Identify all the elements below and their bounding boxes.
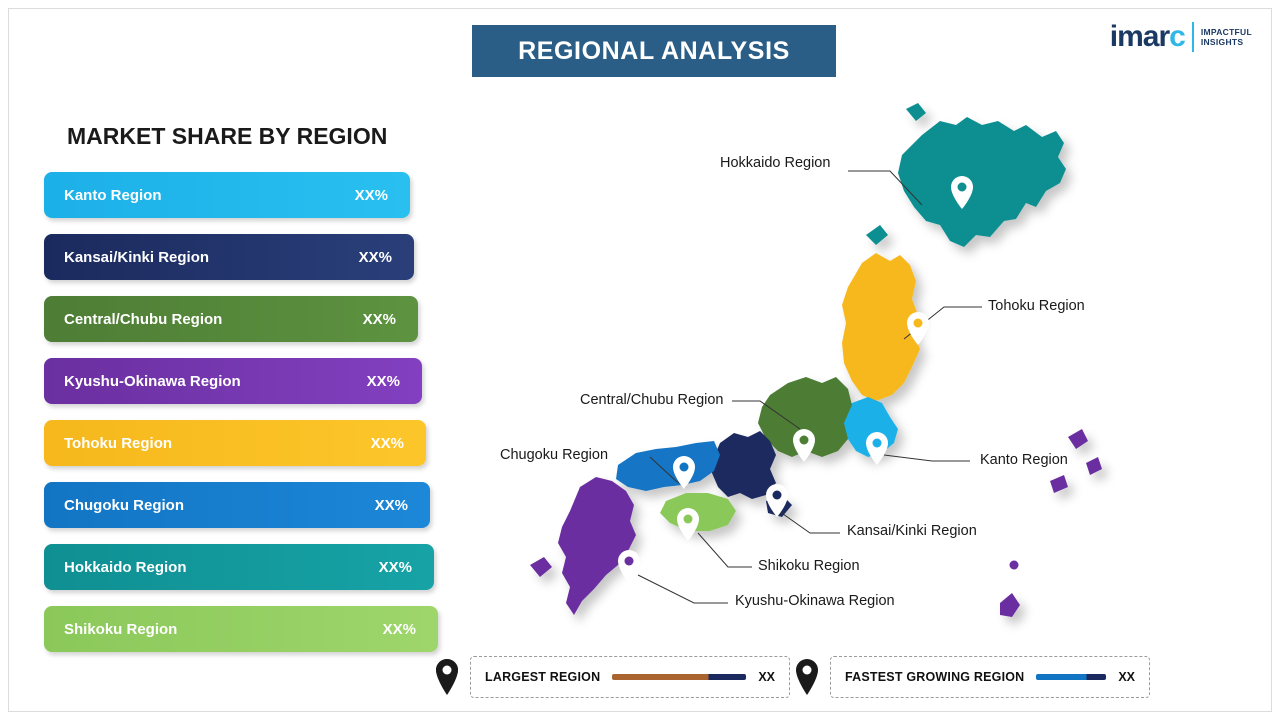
fastest-region-box: FASTEST GROWING REGION XX: [830, 656, 1150, 698]
market-share-bar-value: XX%: [367, 373, 400, 390]
region-okinawa-3[interactable]: [1086, 457, 1102, 475]
logo-tagline-line1: IMPACTFUL: [1201, 27, 1252, 37]
largest-region-label: LARGEST REGION: [485, 670, 600, 684]
market-share-bar-label: Tohoku Region: [64, 435, 172, 452]
market-share-bar-value: XX%: [379, 559, 412, 576]
pin-chubu[interactable]: [793, 429, 815, 462]
market-share-bar-label: Chugoku Region: [64, 497, 184, 514]
region-hokkaido-minor[interactable]: [906, 103, 926, 121]
fastest-region-pin-icon: [794, 657, 820, 697]
map-label-hokkaido: Hokkaido Region: [720, 155, 830, 171]
largest-region-legend: LARGEST REGION XX: [434, 656, 790, 698]
logo-tagline-line2: INSIGHTS: [1201, 37, 1252, 47]
region-kyushu[interactable]: [558, 477, 636, 615]
japan-map: Hokkaido RegionTohoku RegionCentral/Chub…: [470, 95, 1270, 665]
largest-region-bar: [612, 674, 746, 680]
market-share-bar-label: Hokkaido Region: [64, 559, 187, 576]
logo-wordmark-part1: imar: [1110, 20, 1169, 53]
pin-okinawa[interactable]: [1003, 554, 1025, 587]
region-kansai[interactable]: [712, 431, 776, 499]
market-share-bar[interactable]: Chugoku RegionXX%: [44, 482, 430, 528]
market-share-list: Kanto RegionXX%Kansai/Kinki RegionXX%Cen…: [44, 172, 444, 668]
fastest-region-value: XX: [1118, 670, 1135, 684]
market-share-bar-value: XX%: [383, 621, 416, 638]
market-share-bar[interactable]: Shikoku RegionXX%: [44, 606, 438, 652]
map-label-shikoku: Shikoku Region: [758, 558, 860, 574]
market-share-bar[interactable]: Kansai/Kinki RegionXX%: [44, 234, 414, 280]
region-okinawa-2[interactable]: [1068, 429, 1088, 449]
map-label-kanto: Kanto Region: [980, 452, 1068, 468]
logo-wordmark-part2: c: [1169, 20, 1185, 53]
page-title-text: REGIONAL ANALYSIS: [518, 37, 790, 66]
map-label-kyushu: Kyushu-Okinawa Region: [735, 593, 895, 609]
market-share-bar-value: XX%: [363, 311, 396, 328]
page-title: REGIONAL ANALYSIS: [472, 25, 836, 77]
market-share-bar[interactable]: Tohoku RegionXX%: [44, 420, 426, 466]
market-share-bar-label: Kyushu-Okinawa Region: [64, 373, 241, 390]
map-label-chugoku: Chugoku Region: [500, 447, 608, 463]
market-share-bar-label: Kanto Region: [64, 187, 162, 204]
logo-divider: [1192, 22, 1194, 52]
logo-wordmark: imarc: [1110, 20, 1185, 54]
region-okinawa[interactable]: [1000, 593, 1020, 617]
market-share-title: MARKET SHARE BY REGION: [67, 123, 387, 150]
largest-region-pin-icon: [434, 657, 460, 697]
market-share-bar-value: XX%: [375, 497, 408, 514]
market-share-bar-label: Kansai/Kinki Region: [64, 249, 209, 266]
pin-kanto[interactable]: [866, 432, 888, 465]
pin-shikoku[interactable]: [677, 508, 699, 541]
region-okinawa-4[interactable]: [1050, 475, 1068, 493]
imarc-logo: imarc IMPACTFUL INSIGHTS: [1110, 20, 1252, 54]
market-share-bar[interactable]: Hokkaido RegionXX%: [44, 544, 434, 590]
map-label-tohoku: Tohoku Region: [988, 298, 1085, 314]
region-chugoku[interactable]: [616, 441, 720, 491]
logo-tagline: IMPACTFUL INSIGHTS: [1201, 27, 1252, 48]
market-share-bar[interactable]: Kanto RegionXX%: [44, 172, 410, 218]
largest-region-box: LARGEST REGION XX: [470, 656, 790, 698]
region-hokkaido-tail[interactable]: [866, 225, 888, 245]
market-share-bar-value: XX%: [355, 187, 388, 204]
market-share-bar[interactable]: Central/Chubu RegionXX%: [44, 296, 418, 342]
fastest-growing-region-legend: FASTEST GROWING REGION XX: [794, 656, 1150, 698]
fastest-region-bar: [1036, 674, 1106, 680]
region-kyushu-islands[interactable]: [530, 557, 552, 577]
market-share-bar-label: Shikoku Region: [64, 621, 177, 638]
market-share-bar-label: Central/Chubu Region: [64, 311, 222, 328]
market-share-bar[interactable]: Kyushu-Okinawa RegionXX%: [44, 358, 422, 404]
region-hokkaido[interactable]: [898, 117, 1066, 247]
pin-kyushu[interactable]: [618, 550, 640, 583]
fastest-region-label: FASTEST GROWING REGION: [845, 670, 1024, 684]
map-label-kansai: Kansai/Kinki Region: [847, 523, 977, 539]
japan-map-svg: [470, 95, 1270, 665]
map-label-chubu: Central/Chubu Region: [580, 392, 723, 408]
market-share-bar-value: XX%: [359, 249, 392, 266]
region-shikoku[interactable]: [660, 493, 736, 531]
market-share-bar-value: XX%: [371, 435, 404, 452]
largest-region-value: XX: [758, 670, 775, 684]
